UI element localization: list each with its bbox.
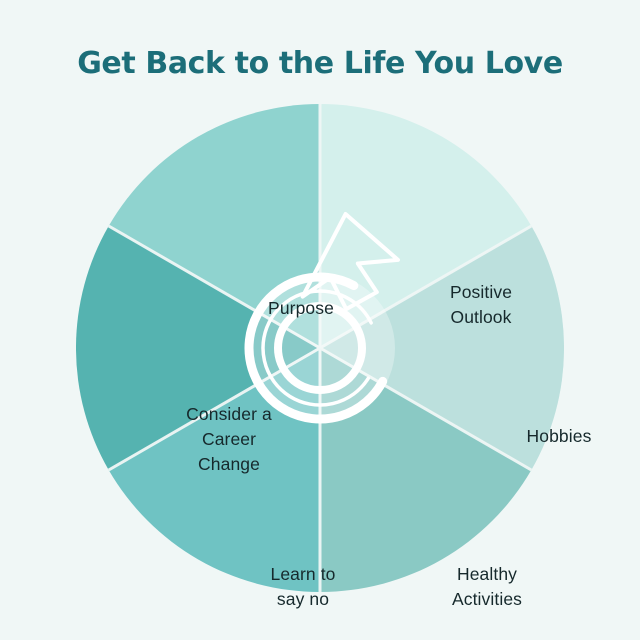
- page-title: Get Back to the Life You Love: [0, 44, 640, 84]
- wheel-chart: Positive Outlook Hobbies Healthy Activit…: [76, 104, 564, 592]
- infographic-canvas: Get Back to the Life You Love: [0, 0, 640, 640]
- pie-chart-svg: [76, 104, 564, 592]
